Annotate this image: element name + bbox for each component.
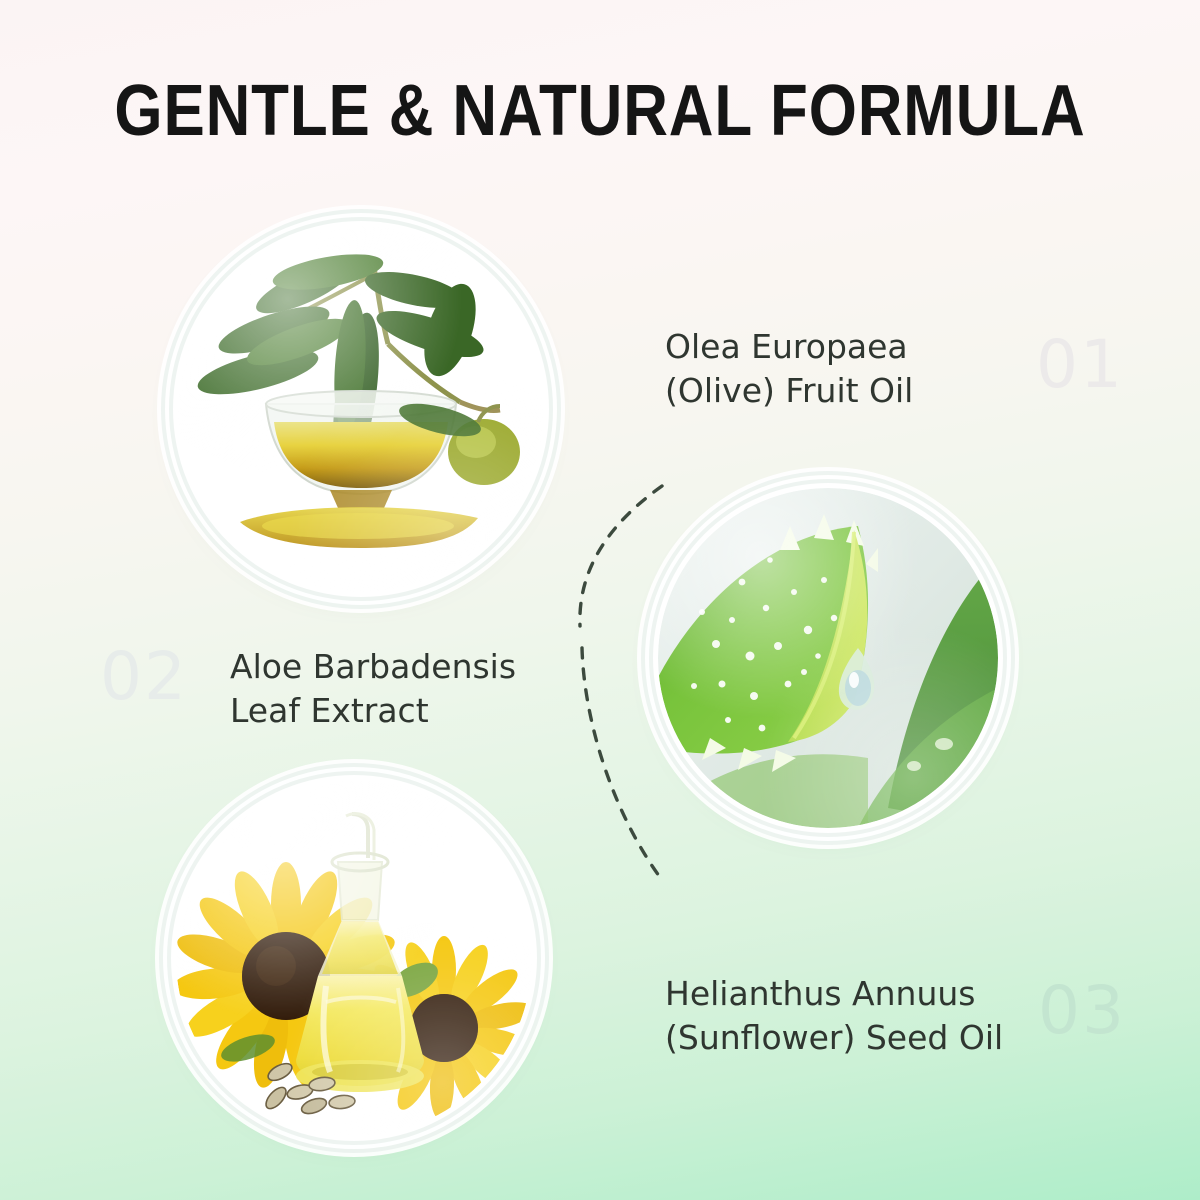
dashed-connector-arc (0, 0, 1200, 1200)
olive-oil-illustration (178, 226, 544, 592)
ingredient-number-03: 03 (1038, 972, 1126, 1049)
ingredient-image-olive[interactable] (178, 226, 544, 592)
ingredient-label-aloe: Aloe Barbadensis Leaf Extract (230, 645, 516, 732)
ingredient-number-02: 02 (100, 638, 188, 715)
ingredient-image-sunflower[interactable] (176, 780, 532, 1136)
aloe-leaf-illustration (658, 488, 998, 828)
ingredient-image-aloe[interactable] (658, 488, 998, 828)
ingredient-number-01: 01 (1036, 326, 1124, 403)
ingredient-label-sunflower: Helianthus Annuus (Sunflower) Seed Oil (665, 972, 1003, 1059)
ingredient-infographic-poster: GENTLE & NATURAL FORMULA (0, 0, 1200, 1200)
sunflower-oil-illustration (176, 780, 532, 1136)
ingredient-label-olive: Olea Europaea (Olive) Fruit Oil (665, 325, 913, 412)
